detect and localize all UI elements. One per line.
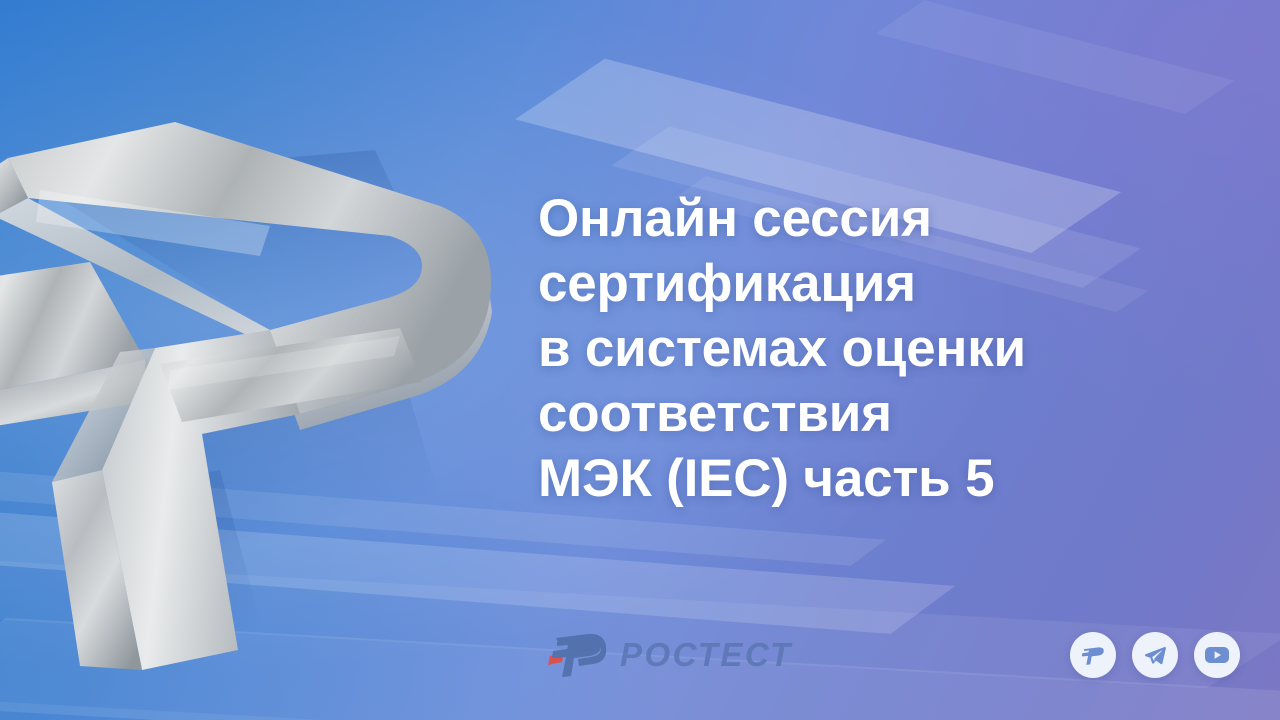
title-card-slide: Онлайн сессия сертификация в системах оц… [0,0,1280,720]
page-title: Онлайн сессия сертификация в системах оц… [538,186,1238,511]
brand-wordmark: РОСТЕСТ [620,636,793,674]
youtube-icon [1204,645,1230,665]
title-line-1: Онлайн сессия [538,186,1238,251]
brand-lockup: РОСТЕСТ [548,628,793,682]
title-line-4: соответствия [538,381,1238,446]
telegram-icon [1143,643,1167,667]
rostest-ruble-icon [548,632,606,678]
social-links [1070,632,1240,678]
rostest-logo-icon [1080,644,1106,666]
title-line-3: в системах оценки [538,316,1238,381]
social-link-rostest[interactable] [1070,632,1116,678]
social-link-telegram[interactable] [1132,632,1178,678]
social-link-youtube[interactable] [1194,632,1240,678]
title-line-5: МЭК (IEC) часть 5 [538,446,1238,511]
title-line-2: сертификация [538,251,1238,316]
